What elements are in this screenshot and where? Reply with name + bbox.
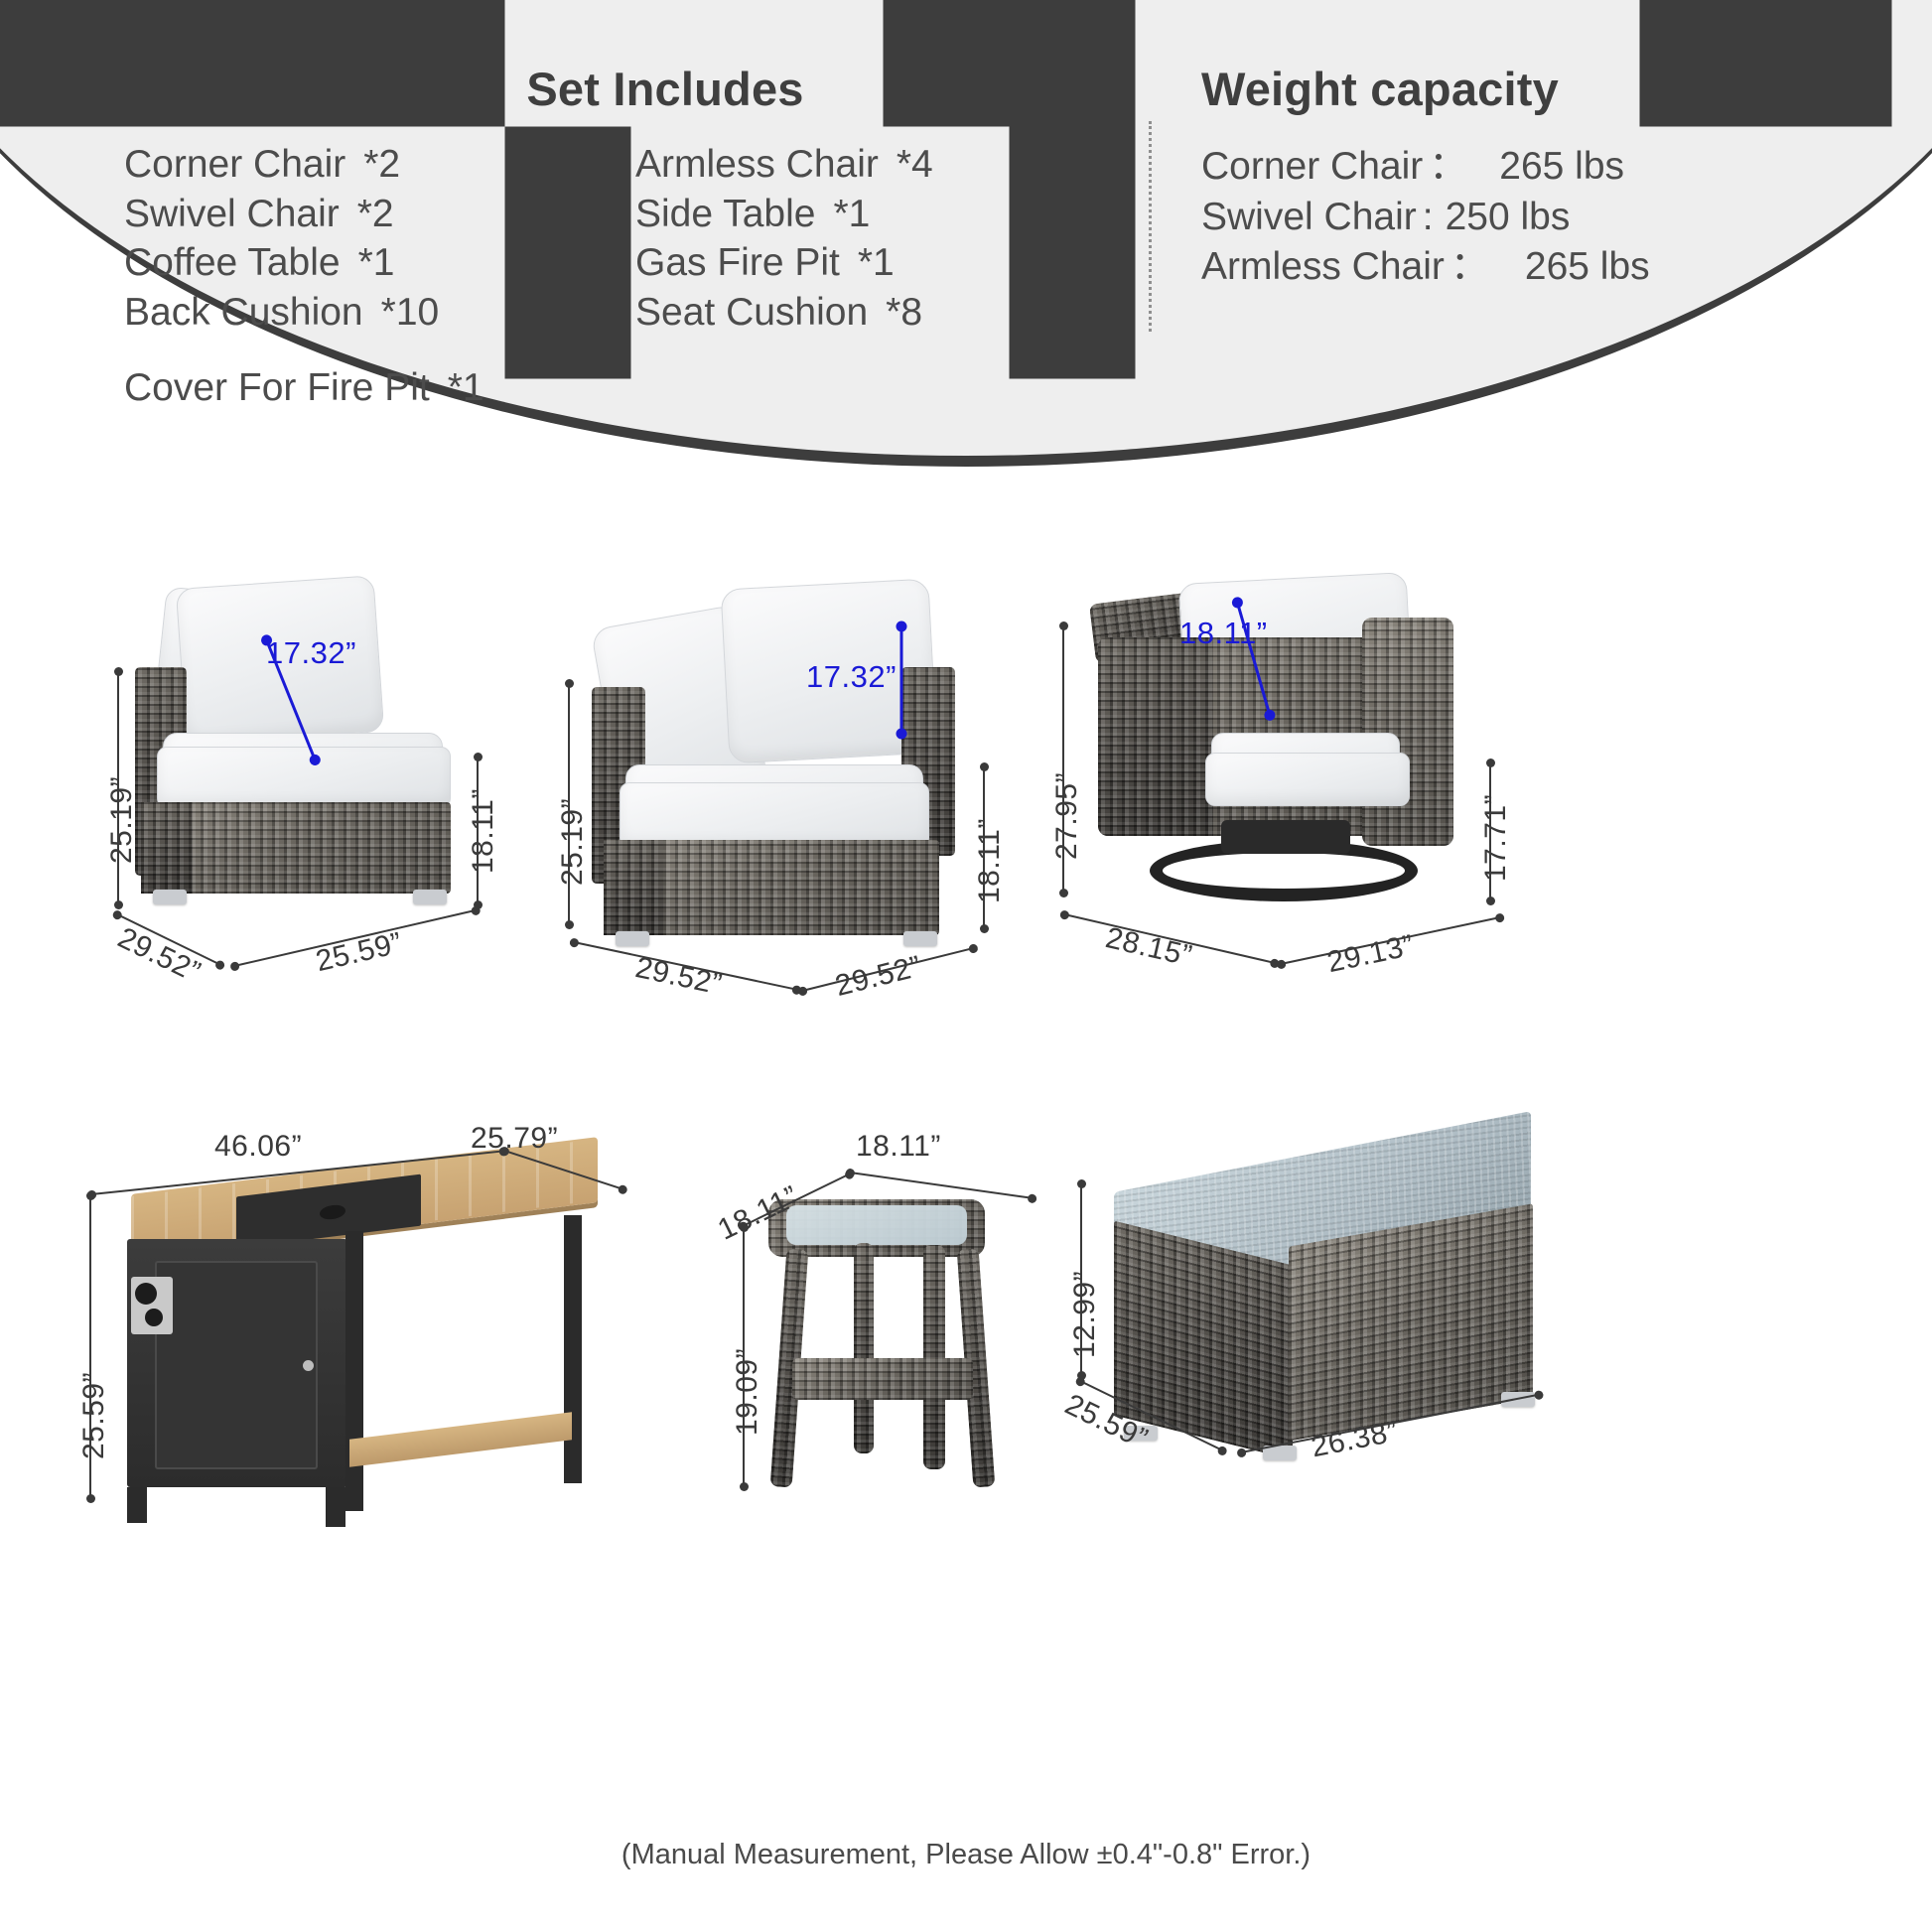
header-content: Set Includes Corner Chair *2 Swivel Chai… xyxy=(0,0,1932,467)
set-includes-item: Armless Chair *4 xyxy=(635,140,1132,190)
set-includes-item-qty: *10 xyxy=(381,288,440,338)
dim-corner-width: 29.52” xyxy=(832,950,925,1004)
dim-leader-width xyxy=(850,1172,1033,1199)
weight-capacity-colon: : xyxy=(1423,193,1434,243)
product-swivel-chair: 27.95” 17.71” 28.15” 29.13” 18.11” xyxy=(1072,566,1569,1023)
set-includes-item-label: Side Table xyxy=(635,190,815,239)
set-includes-item-qty: *4 xyxy=(897,140,933,190)
dim-corner-cushion: 17.32” xyxy=(806,659,897,695)
footer-note: (Manual Measurement, Please Allow ±0.4"-… xyxy=(0,1839,1932,1871)
set-includes-column-right: Armless Chair *4 Side Table *1 Gas Fire … xyxy=(635,140,1132,337)
dim-leader-cushion xyxy=(900,625,903,735)
set-includes-item: Cover For Fire Pit *1 xyxy=(124,366,484,410)
dim-swivel-seat-depth: 17.71” xyxy=(1479,794,1513,882)
set-includes-item-label: Swivel Chair xyxy=(124,190,340,239)
dim-sidetable-height: 19.09” xyxy=(731,1348,764,1436)
dim-armless-width: 25.59” xyxy=(313,926,405,979)
dim-armless-depth: 29.52” xyxy=(112,921,206,990)
set-includes-item: Swivel Chair *2 xyxy=(124,190,640,239)
dim-corner-height: 25.19” xyxy=(556,798,590,886)
weight-capacity-list: Corner Chair ： 265 lbs Swivel Chair : 25… xyxy=(1201,142,1817,293)
set-includes-item-qty: *1 xyxy=(358,238,395,288)
set-includes-item-label: Corner Chair xyxy=(124,140,345,190)
dim-firepit-width: 46.06” xyxy=(214,1130,302,1164)
dim-swivel-cushion: 18.11” xyxy=(1179,616,1268,651)
weight-capacity-colon: ： xyxy=(1450,242,1489,293)
weight-capacity-value: 265 lbs xyxy=(1525,242,1650,293)
weight-capacity-value: 250 lbs xyxy=(1446,193,1571,243)
dim-armless-cushion: 17.32” xyxy=(266,635,356,671)
set-includes-panel: Set Includes Corner Chair *2 Swivel Chai… xyxy=(94,62,1147,140)
dim-firepit-depth: 25.79” xyxy=(471,1122,558,1156)
weight-capacity-panel: Weight capacity Corner Chair ： 265 lbs S… xyxy=(1201,62,1817,293)
product-gas-fire-pit: 25.59” 46.06” 25.79” xyxy=(69,1112,625,1628)
set-includes-item-label: Cover For Fire Pit xyxy=(124,366,430,410)
weight-capacity-name: Corner Chair xyxy=(1201,142,1423,193)
weight-capacity-row: Armless Chair ： 265 lbs xyxy=(1201,242,1817,293)
product-side-table: 19.09” 18.11” 18.11” xyxy=(695,1122,1072,1618)
dim-corner-depth: 29.52” xyxy=(632,951,725,1003)
dim-corner-seat-depth: 18.11” xyxy=(973,818,1007,903)
dim-sidetable-width: 18.11” xyxy=(856,1130,941,1164)
set-includes-item-label: Back Cushion xyxy=(124,288,363,338)
product-armless-chair: 25.19” 18.11” 29.52” 25.59” 17.32” xyxy=(99,576,576,993)
dim-armless-seat-depth: 18.11” xyxy=(467,788,500,874)
dim-swivel-depth: 28.15” xyxy=(1102,921,1194,974)
set-includes-item: Coffee Table *1 xyxy=(124,238,640,288)
weight-capacity-name: Swivel Chair xyxy=(1201,193,1417,243)
dim-armless-height: 25.19” xyxy=(105,776,139,864)
set-includes-item-qty: *8 xyxy=(886,288,922,338)
set-includes-item: Back Cushion *10 xyxy=(124,288,640,338)
set-includes-item: Side Table *1 xyxy=(635,190,1132,239)
set-includes-item-qty: *1 xyxy=(858,238,895,288)
set-includes-item: Corner Chair *2 xyxy=(124,140,640,190)
set-includes-item-qty: *1 xyxy=(833,190,870,239)
set-includes-title: Set Includes xyxy=(184,62,1147,116)
set-includes-item: Gas Fire Pit *1 xyxy=(635,238,1132,288)
weight-capacity-colon: ： xyxy=(1429,142,1467,193)
dim-swivel-width: 29.13” xyxy=(1324,929,1417,981)
set-includes-item-qty: *1 xyxy=(448,366,484,410)
dim-firepit-height: 25.59” xyxy=(77,1372,111,1459)
weight-capacity-row: Swivel Chair : 250 lbs xyxy=(1201,193,1817,243)
product-coffee-table: 12.99” 25.59” 26.38” xyxy=(1052,1132,1608,1569)
set-includes-item-label: Seat Cushion xyxy=(635,288,868,338)
weight-capacity-title: Weight capacity xyxy=(1201,62,1817,116)
header-dotted-divider xyxy=(1149,121,1152,332)
set-includes-item-label: Gas Fire Pit xyxy=(635,238,840,288)
weight-capacity-value: 265 lbs xyxy=(1499,142,1624,193)
product-diagram-area: 25.19” 18.11” 29.52” 25.59” 17.32” xyxy=(0,556,1932,1797)
weight-capacity-row: Corner Chair ： 265 lbs xyxy=(1201,142,1817,193)
set-includes-item: Seat Cushion *8 xyxy=(635,288,1132,338)
weight-capacity-name: Armless Chair xyxy=(1201,242,1445,293)
set-includes-item-qty: *2 xyxy=(363,140,400,190)
product-corner-chair: 25.19” 18.11” 29.52” 29.52” 17.32” xyxy=(586,576,1062,1013)
dim-swivel-height: 27.95” xyxy=(1050,772,1084,860)
set-includes-column-left: Corner Chair *2 Swivel Chair *2 Coffee T… xyxy=(124,140,640,337)
set-includes-item-label: Armless Chair xyxy=(635,140,879,190)
set-includes-item-qty: *2 xyxy=(357,190,394,239)
set-includes-item-label: Coffee Table xyxy=(124,238,341,288)
dim-coffee-height: 12.99” xyxy=(1068,1271,1102,1358)
